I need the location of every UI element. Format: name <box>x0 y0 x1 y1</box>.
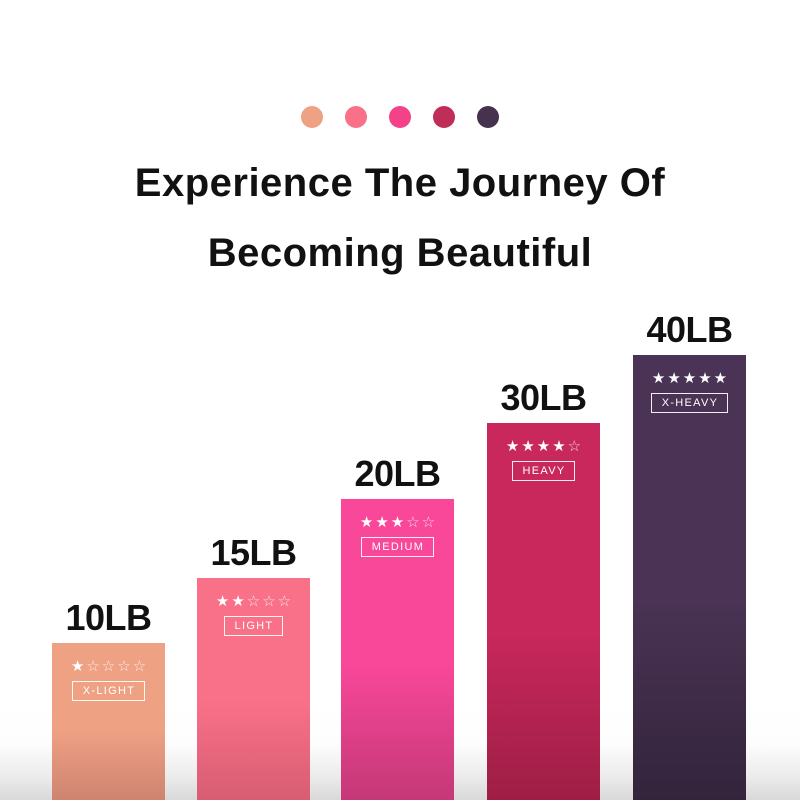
star-filled-icon: ★ <box>714 371 727 386</box>
star-filled-icon: ★ <box>667 371 680 386</box>
star-filled-icon: ★ <box>391 515 404 530</box>
infographic-page: Experience The Journey Of Becoming Beaut… <box>0 0 800 800</box>
bar-content: ★★★☆☆MEDIUM <box>341 515 454 557</box>
star-filled-icon: ★ <box>652 371 665 386</box>
star-empty-icon: ☆ <box>568 439 581 454</box>
bar-content: ★★★★★X-HEAVY <box>633 371 746 413</box>
bar-column-15lb[interactable]: 15LB★★☆☆☆LIGHT <box>197 532 310 800</box>
bar-value-label: 15LB <box>210 532 296 574</box>
star-empty-icon: ☆ <box>422 515 435 530</box>
resistance-level-badge: X-HEAVY <box>651 393 729 413</box>
dot-x-light <box>301 106 323 128</box>
star-empty-icon: ☆ <box>86 659 99 674</box>
star-rating: ★★★★★ <box>652 371 727 386</box>
bar-value-label: 10LB <box>65 597 151 639</box>
dot-medium <box>389 106 411 128</box>
bar-column-40lb[interactable]: 40LB★★★★★X-HEAVY <box>633 309 746 800</box>
resistance-bar-chart: 10LB★☆☆☆☆X-LIGHT15LB★★☆☆☆LIGHT20LB★★★☆☆M… <box>0 280 800 800</box>
color-swatch-row <box>0 106 800 128</box>
star-empty-icon: ☆ <box>262 594 275 609</box>
star-filled-icon: ★ <box>506 439 519 454</box>
star-empty-icon: ☆ <box>102 659 115 674</box>
star-filled-icon: ★ <box>216 594 229 609</box>
bar-column-10lb[interactable]: 10LB★☆☆☆☆X-LIGHT <box>52 597 165 800</box>
star-rating: ★★★★☆ <box>506 439 581 454</box>
star-filled-icon: ★ <box>71 659 84 674</box>
bar-15lb[interactable]: ★★☆☆☆LIGHT <box>197 578 310 800</box>
star-filled-icon: ★ <box>360 515 373 530</box>
dot-heavy <box>433 106 455 128</box>
dot-x-heavy <box>477 106 499 128</box>
bar-column-20lb[interactable]: 20LB★★★☆☆MEDIUM <box>341 453 454 800</box>
star-empty-icon: ☆ <box>278 594 291 609</box>
star-filled-icon: ★ <box>521 439 534 454</box>
page-title: Experience The Journey Of Becoming Beaut… <box>0 148 800 288</box>
resistance-level-badge: LIGHT <box>224 616 284 636</box>
star-filled-icon: ★ <box>537 439 550 454</box>
bar-value-label: 20LB <box>354 453 440 495</box>
bar-column-30lb[interactable]: 30LB★★★★☆HEAVY <box>487 377 600 800</box>
star-empty-icon: ☆ <box>133 659 146 674</box>
bar-40lb[interactable]: ★★★★★X-HEAVY <box>633 355 746 800</box>
dot-light <box>345 106 367 128</box>
star-rating: ★☆☆☆☆ <box>71 659 146 674</box>
bar-content: ★☆☆☆☆X-LIGHT <box>52 659 165 701</box>
star-filled-icon: ★ <box>698 371 711 386</box>
star-filled-icon: ★ <box>683 371 696 386</box>
bar-content: ★★★★☆HEAVY <box>487 439 600 481</box>
bar-value-label: 30LB <box>500 377 586 419</box>
bar-value-label: 40LB <box>646 309 732 351</box>
page-title-line-1: Experience The Journey Of <box>0 148 800 218</box>
resistance-level-badge: HEAVY <box>512 461 576 481</box>
star-empty-icon: ☆ <box>406 515 419 530</box>
page-title-line-2: Becoming Beautiful <box>0 218 800 288</box>
star-rating: ★★☆☆☆ <box>216 594 291 609</box>
star-empty-icon: ☆ <box>117 659 130 674</box>
bar-content: ★★☆☆☆LIGHT <box>197 594 310 636</box>
bar-20lb[interactable]: ★★★☆☆MEDIUM <box>341 499 454 800</box>
star-filled-icon: ★ <box>231 594 244 609</box>
star-filled-icon: ★ <box>375 515 388 530</box>
star-rating: ★★★☆☆ <box>360 515 435 530</box>
resistance-level-badge: MEDIUM <box>361 537 434 557</box>
bar-30lb[interactable]: ★★★★☆HEAVY <box>487 423 600 800</box>
resistance-level-badge: X-LIGHT <box>72 681 146 701</box>
star-filled-icon: ★ <box>552 439 565 454</box>
star-empty-icon: ☆ <box>247 594 260 609</box>
bar-10lb[interactable]: ★☆☆☆☆X-LIGHT <box>52 643 165 800</box>
